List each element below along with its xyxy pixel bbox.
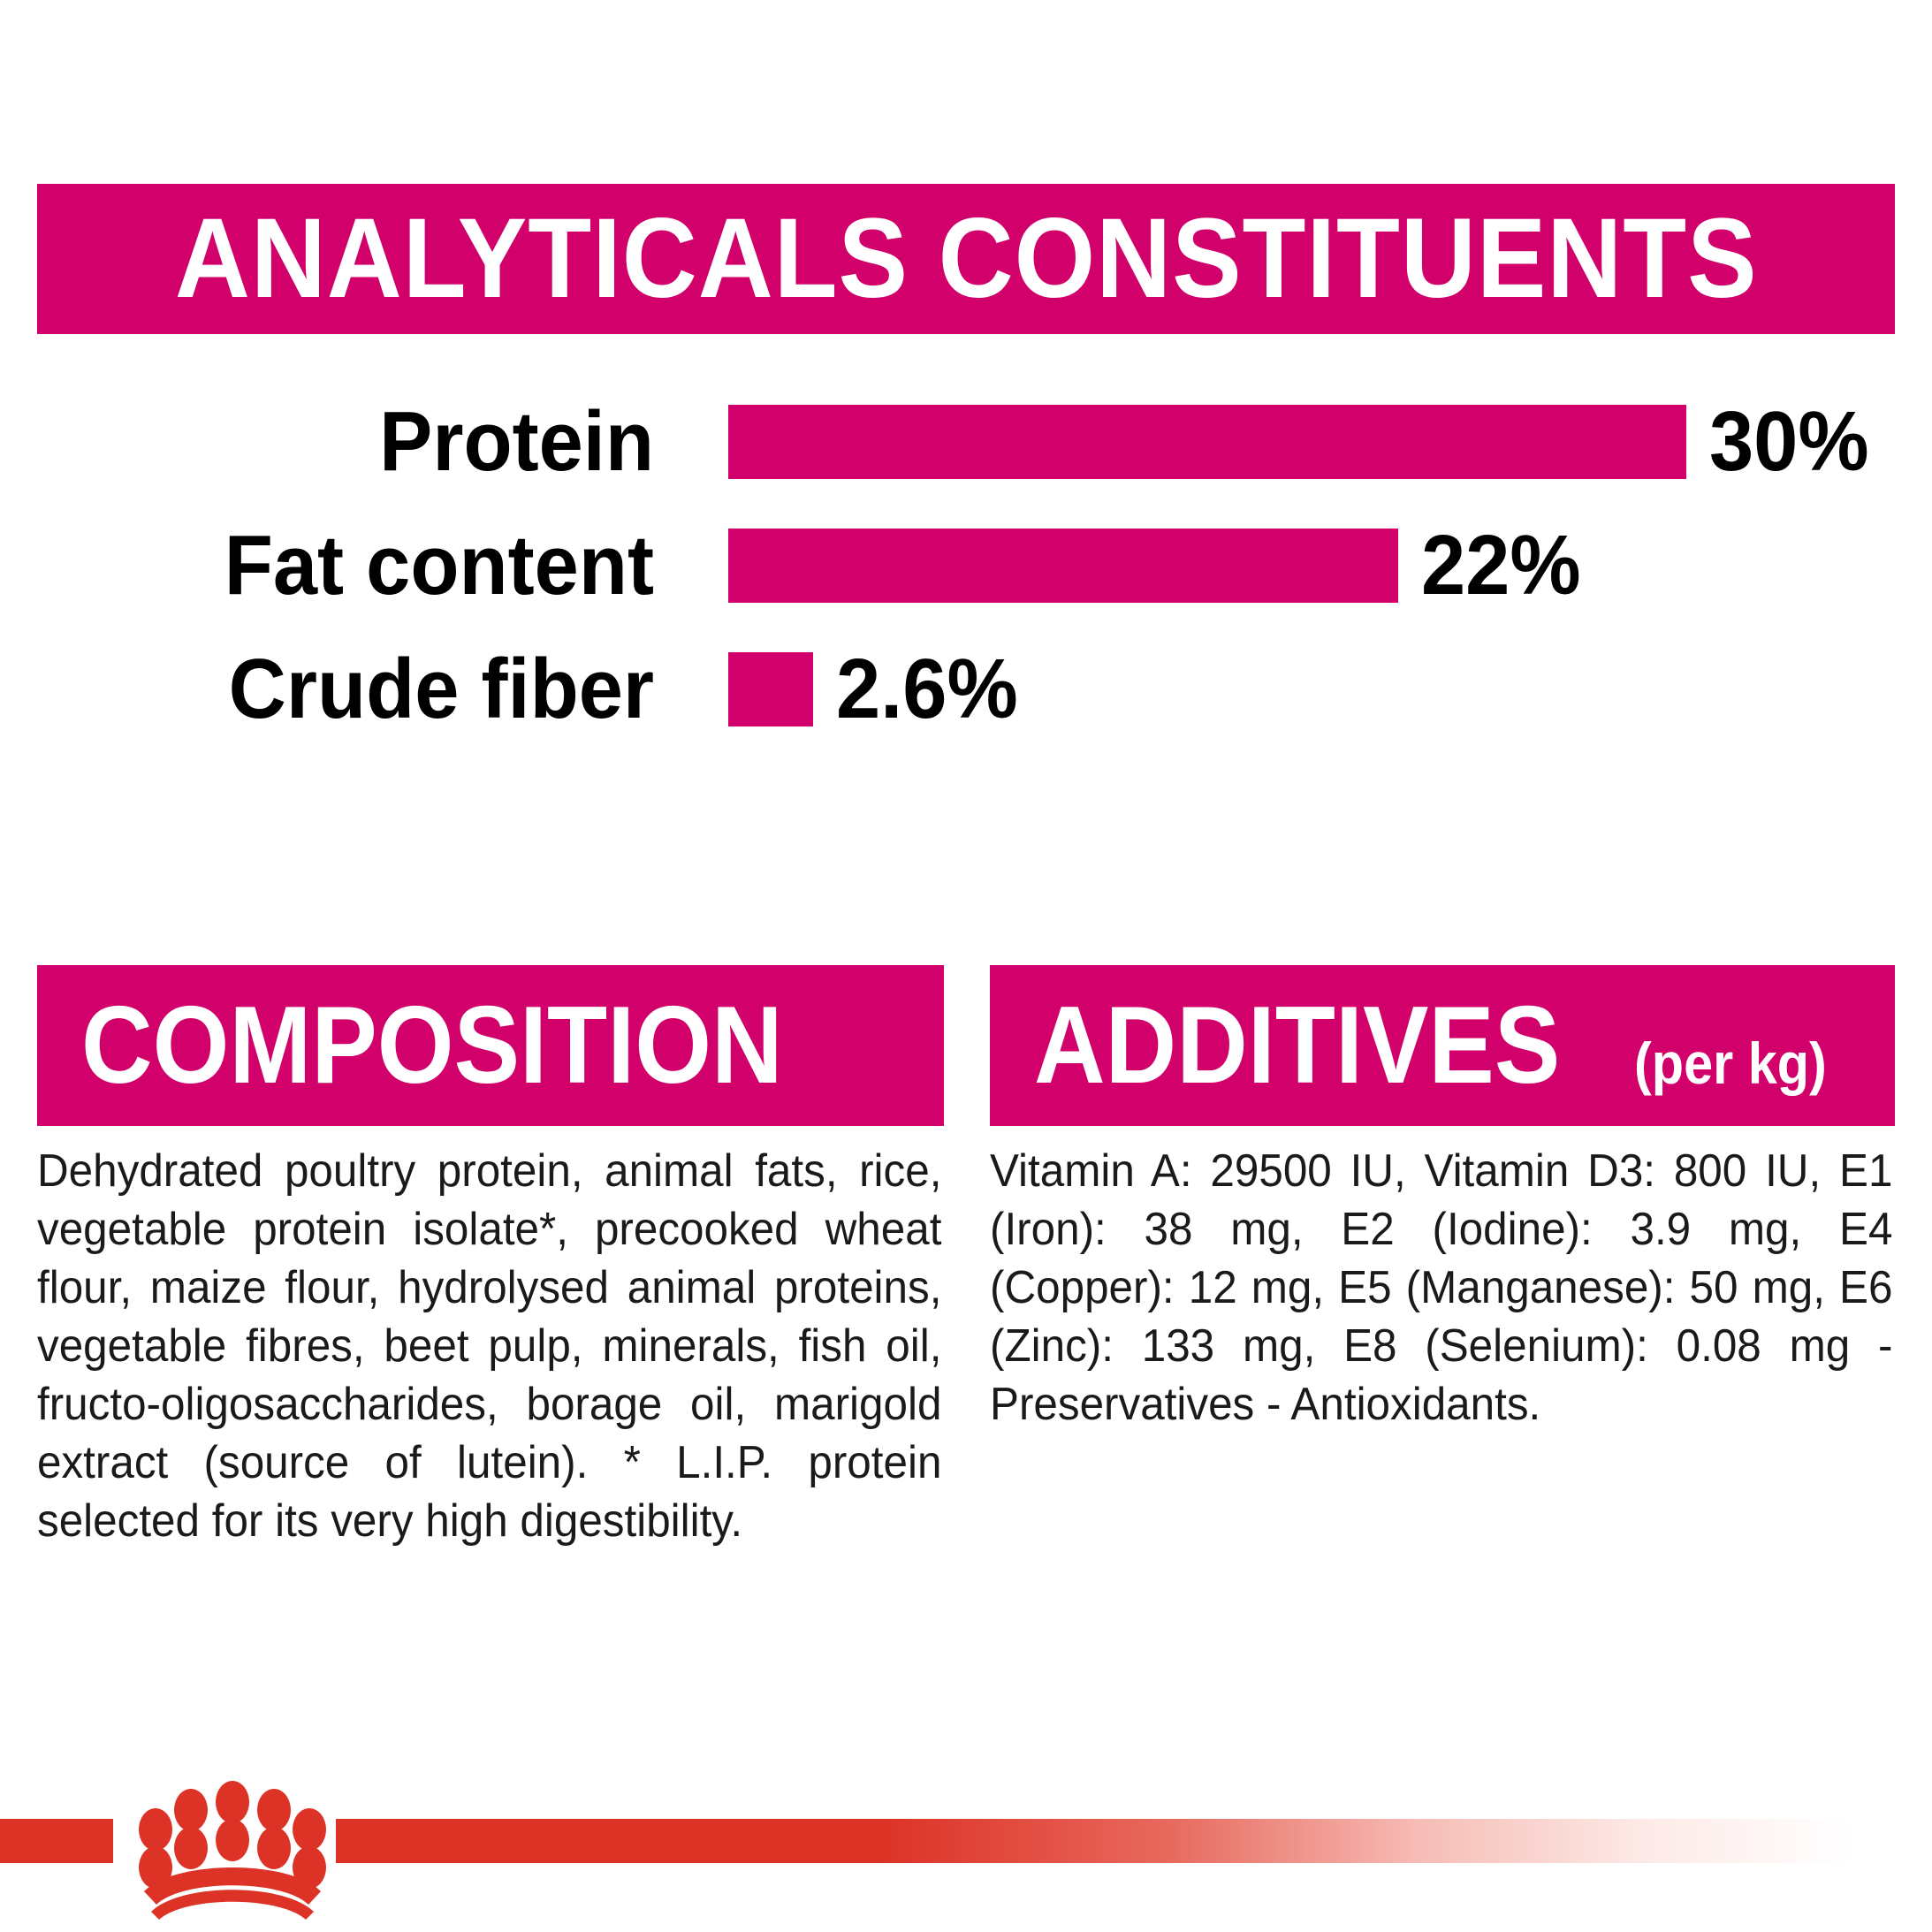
chart-row-protein: Protein 30%	[0, 380, 1932, 504]
chart-row-crude-fiber: Crude fiber 2.6%	[0, 628, 1932, 751]
bar-fill-fat-content	[728, 529, 1398, 603]
additives-panel: ADDITIVES (per kg) Vitamin A: 29500 IU, …	[990, 965, 1895, 1550]
bar-label-crude-fiber: Crude fiber	[139, 647, 654, 732]
royal-canin-crown-icon	[126, 1778, 338, 1928]
footer-rule-left	[0, 1819, 113, 1863]
bar-label-fat-content: Fat content	[139, 523, 654, 608]
bar-value-fat-content: 22%	[1421, 523, 1581, 608]
composition-body-text: Dehydrated poultry protein, animal fats,…	[37, 1142, 941, 1550]
additives-title: ADDITIVES	[1034, 991, 1560, 1100]
bar-label-protein: Protein	[139, 399, 654, 484]
chart-row-fat-content: Fat content 22%	[0, 504, 1932, 628]
analytical-constituents-title: ANALYTICALS CONSTITUENTS	[175, 202, 1758, 316]
composition-panel: COMPOSITION Dehydrated poultry protein, …	[37, 965, 944, 1550]
bar-track-fat-content: 22%	[728, 504, 1932, 628]
bar-track-crude-fiber: 2.6%	[728, 628, 1932, 751]
footer-brand-strip	[0, 1794, 1932, 1932]
analytical-constituents-chart: Protein 30% Fat content 22% Crude fiber …	[0, 380, 1932, 751]
bar-value-protein: 30%	[1709, 399, 1869, 484]
additives-subtitle-per-kg: (per kg)	[1634, 1034, 1827, 1092]
composition-title: COMPOSITION	[81, 991, 783, 1100]
composition-header: COMPOSITION	[37, 965, 944, 1126]
analytical-constituents-header: ANALYTICALS CONSTITUENTS	[37, 184, 1895, 334]
bar-fill-protein	[728, 405, 1686, 479]
bar-fill-crude-fiber	[728, 652, 813, 726]
footer-rule-right	[336, 1819, 1932, 1863]
bar-track-protein: 30%	[728, 380, 1932, 504]
info-panels: COMPOSITION Dehydrated poultry protein, …	[0, 965, 1932, 1550]
bar-value-crude-fiber: 2.6%	[836, 647, 1018, 732]
additives-body-text: Vitamin A: 29500 IU, Vitamin D3: 800 IU,…	[990, 1142, 1892, 1434]
additives-header: ADDITIVES (per kg)	[990, 965, 1895, 1126]
